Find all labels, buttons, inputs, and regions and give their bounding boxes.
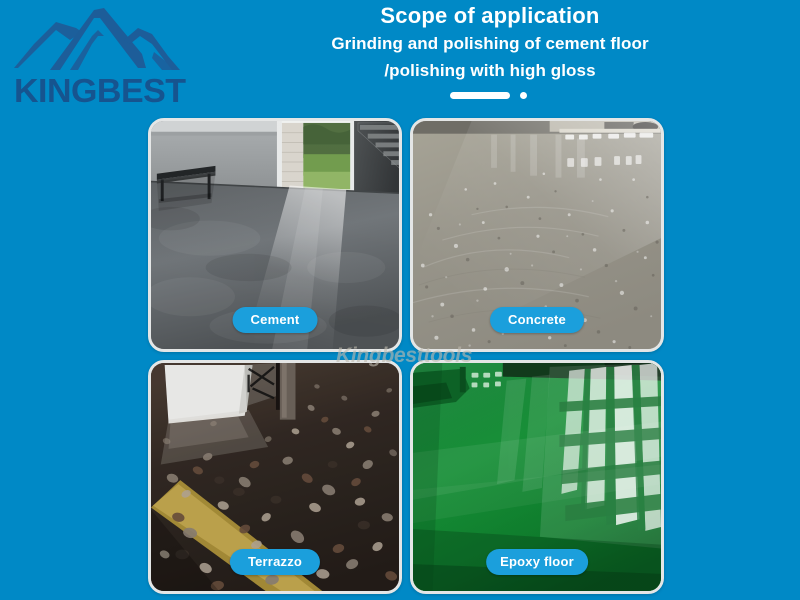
page-header: KINGBEST Scope of application Grinding a… [0, 0, 800, 118]
page-title: Scope of application [190, 2, 790, 30]
gallery-tile-cement[interactable]: Cement [148, 118, 402, 352]
page-subtitle-line-2: /polishing with high gloss [190, 57, 790, 84]
gallery-tile-terrazzo[interactable]: Terrazzo [148, 360, 402, 594]
header-text-block: Scope of application Grinding and polish… [190, 2, 790, 101]
tile-label-terrazzo: Terrazzo [230, 549, 320, 575]
divider-dot [520, 92, 527, 99]
tile-label-epoxy-floor: Epoxy floor [486, 549, 588, 575]
tile-label-concrete: Concrete [490, 307, 584, 333]
divider-ornament [450, 90, 530, 101]
gallery-tile-concrete[interactable]: Concrete [410, 118, 664, 352]
page-subtitle-line-1: Grinding and polishing of cement floor [190, 30, 790, 57]
tile-label-cement: Cement [233, 307, 318, 333]
brand-logo: KINGBEST [8, 6, 188, 108]
application-gallery: Cement [148, 118, 664, 594]
divider-bar [450, 92, 510, 99]
gallery-tile-epoxy[interactable]: Epoxy floor [410, 360, 664, 594]
brand-wordmark: KINGBEST [14, 72, 186, 110]
mountain-icon [12, 6, 184, 72]
